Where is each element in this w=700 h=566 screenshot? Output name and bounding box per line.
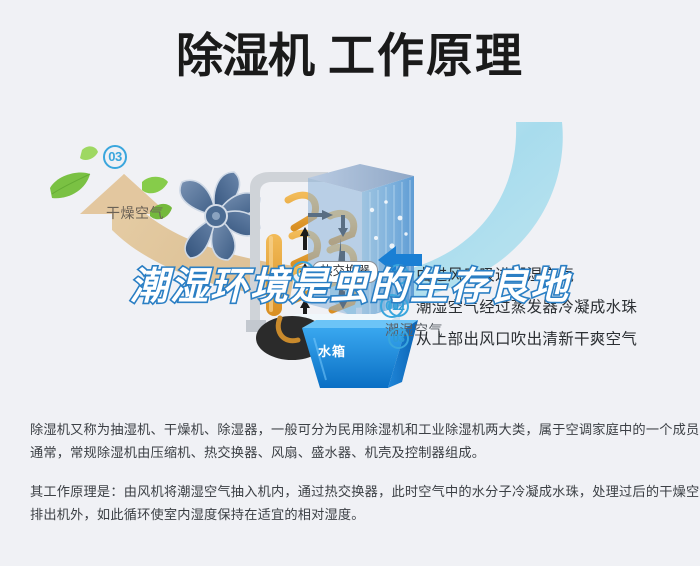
paragraph-2-line-1: 其工作原理是：由风机将潮湿空气抽入机内，通过热交换器，此时空气中的水分子冷凝成水… bbox=[30, 484, 700, 499]
paragraph-2-line-2: 排出机外，如此循环使室内湿度保持在适宜的相对湿度。 bbox=[30, 507, 365, 522]
page-title: 除湿机工作原理 bbox=[0, 28, 700, 84]
page-title-part2: 工作原理 bbox=[328, 29, 524, 82]
paragraph-2: 其工作原理是：由风机将潮湿空气抽入机内，通过热交换器，此时空气中的水分子冷凝成水… bbox=[30, 480, 675, 526]
dry-air-label: 干燥空气 bbox=[106, 203, 164, 223]
paragraph-1-line-1: 除湿机又称为抽湿机、干燥机、除湿器，一般可分为民用除湿机和工业除湿机两大类，属于… bbox=[30, 422, 700, 437]
step-text-03: 从上部出风口吹出清新干爽空气 bbox=[416, 327, 637, 349]
watermark-text: 潮湿环境是虫的生存良地 bbox=[0, 264, 700, 310]
page-title-part1: 除湿机 bbox=[176, 29, 314, 82]
paragraph-1: 除湿机又称为抽湿机、干燥机、除湿器，一般可分为民用除湿机和工业除湿机两大类，属于… bbox=[30, 418, 675, 464]
paragraph-1-line-2: 通常，常规除湿机由压缩机、热交换器、风扇、盛水器、机壳及控制器组成。 bbox=[30, 445, 485, 460]
diagram-badge-03: 03 bbox=[103, 145, 127, 169]
list-item: 03 从上部出风口吹出清新干爽空气 bbox=[388, 322, 688, 354]
body-copy: 除湿机又称为抽湿机、干燥机、除湿器，一般可分为民用除湿机和工业除湿机两大类，属于… bbox=[30, 418, 675, 526]
dehumidifier-infographic: 除湿机工作原理 bbox=[0, 0, 700, 566]
water-tank-label: 水箱 bbox=[318, 341, 346, 360]
step-number-03: 03 bbox=[388, 328, 409, 349]
